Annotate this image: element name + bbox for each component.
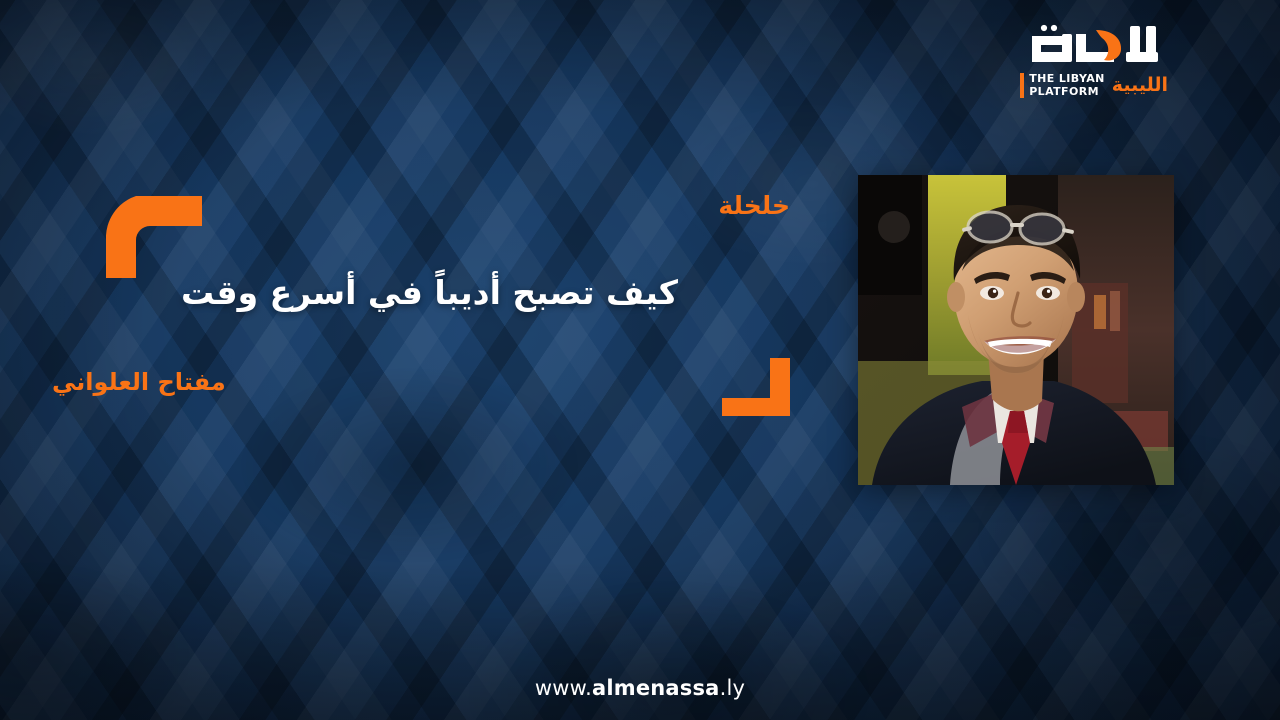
orange-opening-quote-mark-icon — [106, 196, 202, 282]
headline-title: كيف تصبح أديباً في أسرع وقت — [18, 272, 678, 315]
category-kicker: خلخلة — [718, 191, 790, 221]
social-media-card: THE LIBYAN PLATFORM الليبية خلخلة كيف تص… — [0, 0, 1280, 720]
brand-logo[interactable]: THE LIBYAN PLATFORM الليبية — [1018, 22, 1168, 98]
logo-english-line2: PLATFORM — [1029, 86, 1105, 98]
author-name: مفتاح العلواني — [52, 368, 226, 397]
logo-english-lockup: THE LIBYAN PLATFORM — [1020, 73, 1105, 98]
orange-closing-quote-mark-icon — [722, 358, 790, 420]
logo-english-line1: THE LIBYAN — [1029, 73, 1105, 85]
url-tld: .ly — [720, 676, 746, 700]
url-domain-name: almenassa — [592, 676, 720, 700]
footer-website-url[interactable]: www.almenassa.ly — [0, 676, 1280, 700]
url-prefix: www. — [535, 676, 592, 700]
author-portrait-photo — [858, 175, 1174, 485]
logo-arabic-subtitle: الليبية — [1112, 76, 1168, 95]
logo-arabic-wordmark — [1018, 22, 1168, 70]
logo-accent-bar — [1020, 73, 1024, 98]
